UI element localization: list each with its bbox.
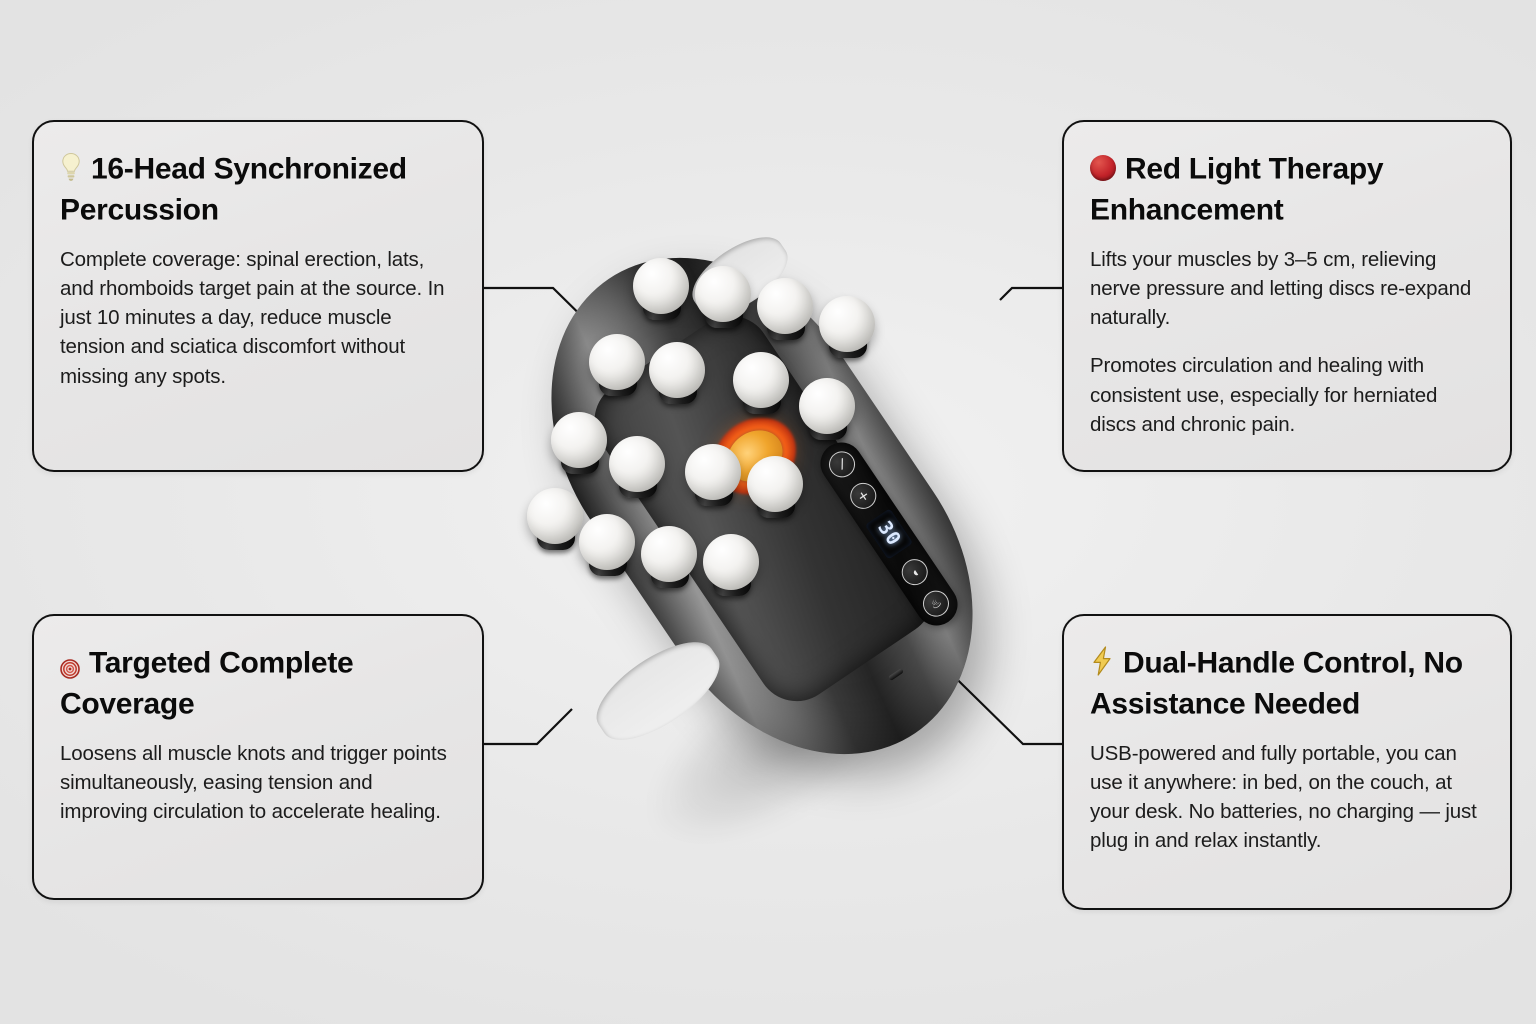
power-button[interactable]: /	[824, 446, 860, 482]
massage-head	[684, 444, 744, 504]
card-title-text: 16-Head Synchronized Percussion	[60, 153, 407, 227]
card-title: Red Light Therapy Enhancement	[1090, 148, 1480, 229]
card-paragraph: Complete coverage: spinal erection, lats…	[60, 245, 452, 391]
mode-button[interactable]: ◖	[897, 554, 933, 590]
card-title: Dual-Handle Control, No Assistance Neede…	[1090, 642, 1480, 723]
feature-card-targeted-complete-coverage: Targeted Complete Coverage Loosens all m…	[32, 614, 484, 900]
massage-head	[648, 342, 708, 402]
red-circle-icon	[1090, 155, 1116, 181]
massage-head	[526, 488, 586, 548]
massage-head	[578, 514, 638, 574]
feature-card-red-light-therapy-enhancement: Red Light Therapy Enhancement Lifts your…	[1062, 120, 1512, 472]
massage-head	[632, 258, 692, 318]
target-icon	[60, 650, 80, 670]
card-title-text: Dual-Handle Control, No Assistance Neede…	[1090, 647, 1463, 721]
massage-head	[756, 278, 816, 338]
plus-button[interactable]: +	[845, 478, 881, 514]
card-title-text: Red Light Therapy Enhancement	[1090, 153, 1383, 227]
lightbulb-icon	[60, 152, 82, 182]
card-body: Loosens all muscle knots and trigger poi…	[60, 739, 452, 826]
massage-head	[818, 296, 878, 356]
card-paragraph: Promotes circulation and healing with co…	[1090, 351, 1480, 438]
card-body: Lifts your muscles by 3–5 cm, relieving …	[1090, 245, 1480, 439]
card-title: 16-Head Synchronized Percussion	[60, 148, 452, 229]
massage-head	[732, 352, 792, 412]
feature-card-16-head-synchronized-percussion: 16-Head Synchronized Percussion Complete…	[32, 120, 484, 472]
card-title-text: Targeted Complete Coverage	[60, 647, 353, 721]
feature-card-dual-handle-control: Dual-Handle Control, No Assistance Neede…	[1062, 614, 1512, 910]
lightning-bolt-icon	[1090, 646, 1114, 676]
massage-head	[588, 334, 648, 394]
product-image-massager: / + 30 ◖ ♨	[516, 196, 1046, 816]
card-title: Targeted Complete Coverage	[60, 642, 452, 723]
card-paragraph: Lifts your muscles by 3–5 cm, relieving …	[1090, 245, 1480, 332]
massage-head	[746, 456, 806, 516]
massage-head	[798, 378, 858, 438]
massage-head	[608, 436, 668, 496]
card-body: USB-powered and fully portable, you can …	[1090, 739, 1480, 855]
massage-head	[640, 526, 700, 586]
timer-display-value: 30	[873, 518, 905, 551]
massage-head	[702, 534, 762, 594]
card-paragraph: USB-powered and fully portable, you can …	[1090, 739, 1480, 855]
card-body: Complete coverage: spinal erection, lats…	[60, 245, 452, 391]
heat-button[interactable]: ♨	[918, 586, 954, 622]
card-paragraph: Loosens all muscle knots and trigger poi…	[60, 739, 452, 826]
massage-head	[550, 412, 610, 472]
massage-head	[694, 266, 754, 326]
